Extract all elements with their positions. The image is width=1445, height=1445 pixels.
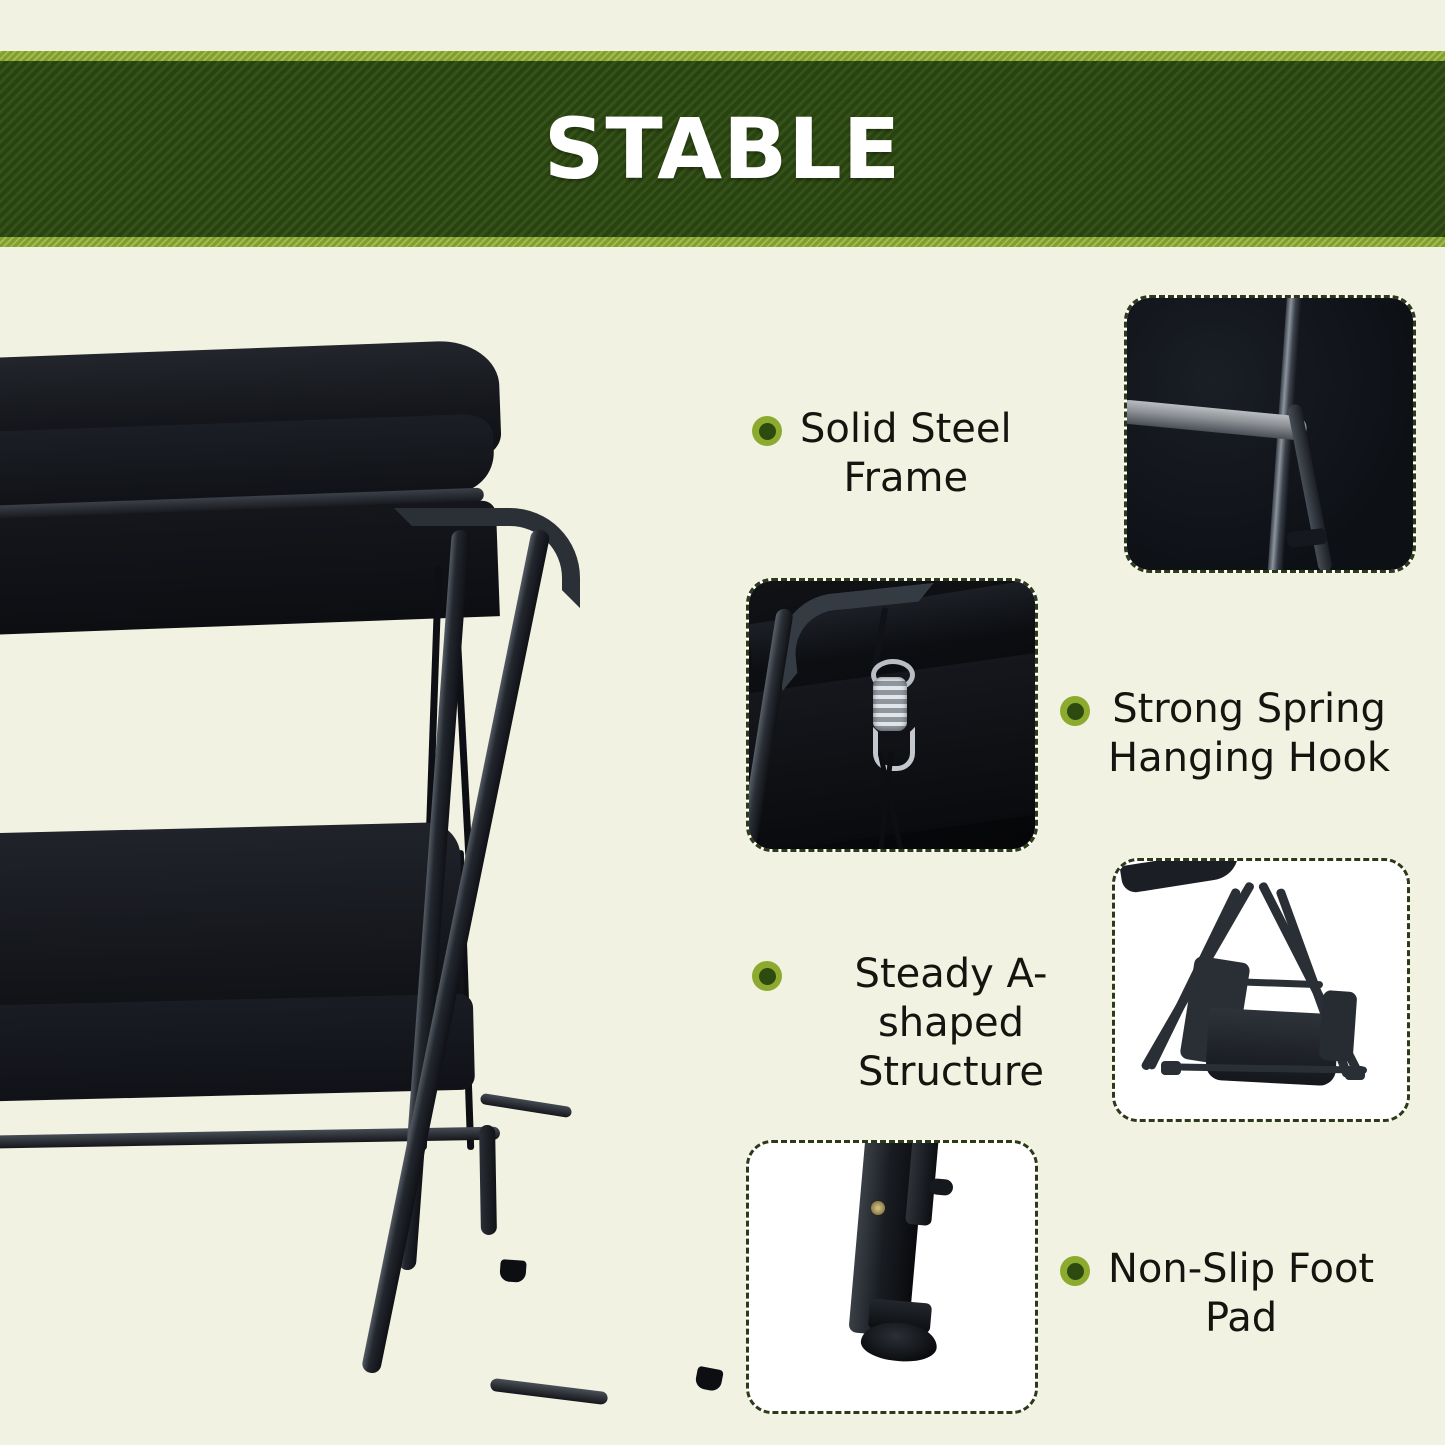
frame-mid-brace (480, 1093, 573, 1118)
frame-top-bend (394, 508, 580, 608)
canopy-corner (1120, 861, 1243, 894)
a-frame-left-foot (1161, 1061, 1181, 1075)
bullet-icon (1060, 1256, 1090, 1286)
feature-label-line1: Strong Spring (1112, 686, 1386, 732)
feature-label-line2: Frame (843, 455, 968, 501)
feature-label-text: Non-Slip Foot Pad (1108, 1245, 1374, 1343)
feature-label-steady-a-shaped-structure: Steady A-shaped Structure (752, 950, 1102, 1096)
swing-armrest (1319, 990, 1358, 1062)
a-shaped-structure-photo (1115, 861, 1407, 1119)
steel-frame-joint-photo (1127, 298, 1413, 570)
feature-label-non-slip-foot-pad: Non-Slip Foot Pad (1060, 1245, 1420, 1343)
callout-non-slip-foot-pad[interactable] (746, 1140, 1038, 1414)
feature-label-line1: Non-Slip Foot (1108, 1246, 1374, 1292)
callout-spring-hanging-hook[interactable] (746, 578, 1038, 852)
a-frame-right-foot (1345, 1066, 1365, 1080)
banner-core: STABLE (0, 61, 1445, 237)
leg-knob (928, 1178, 953, 1196)
feature-label-text: Steady A-shaped Structure (800, 950, 1102, 1096)
page-title: STABLE (0, 61, 1445, 237)
feature-label-strong-spring-hanging-hook: Strong Spring Hanging Hook (1060, 685, 1420, 783)
coil-spring (873, 677, 907, 731)
hero-product-image (0, 330, 690, 1390)
feature-label-text: Strong Spring Hanging Hook (1108, 685, 1390, 783)
frame-front-foot (499, 1259, 526, 1283)
seat-rail-end (479, 1125, 497, 1235)
feature-label-line2: Structure (858, 1049, 1044, 1095)
bullet-icon (752, 961, 782, 991)
bullet-icon (1060, 696, 1090, 726)
header-banner: STABLE (0, 51, 1445, 247)
frame-cross-brace (490, 1378, 609, 1405)
feature-label-text: Solid Steel Frame (800, 405, 1012, 503)
feature-label-line1: Steady A-shaped (855, 951, 1048, 1046)
frame-back-foot (694, 1366, 724, 1393)
feature-label-line2: Hanging Hook (1108, 735, 1390, 781)
callout-steel-frame-joint[interactable] (1124, 295, 1416, 573)
non-slip-foot-pad-photo (749, 1143, 1035, 1411)
spring-hanging-hook-photo (749, 581, 1035, 849)
feature-label-line2: Pad (1205, 1295, 1277, 1341)
feature-label-line1: Solid Steel (800, 406, 1012, 452)
bullet-icon (752, 416, 782, 446)
feature-label-solid-steel-frame: Solid Steel Frame (752, 405, 1082, 503)
screw-icon (871, 1201, 885, 1215)
callout-a-shaped-structure[interactable] (1112, 858, 1410, 1122)
